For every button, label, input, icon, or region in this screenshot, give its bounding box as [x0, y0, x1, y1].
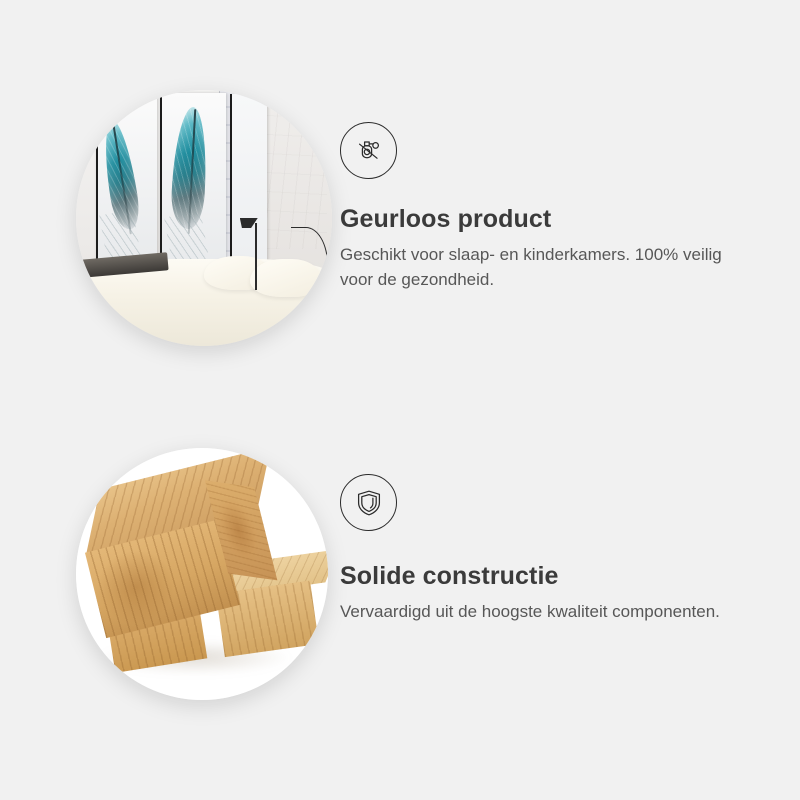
- bedroom-feather-canvas-photo: [76, 90, 332, 346]
- feature-copy-1: Geurloos product Geschikt voor slaap- en…: [340, 80, 760, 292]
- feature-title: Solide constructie: [340, 561, 760, 591]
- wood-scene: [76, 448, 328, 700]
- canvas-panel-left: [96, 95, 157, 272]
- feature-block-odourless: Geurloos product Geschikt voor slaap- en…: [0, 80, 800, 370]
- wooden-beams-photo: [76, 448, 328, 700]
- feature-copy-2: Solide constructie Vervaardigd uit de ho…: [340, 438, 760, 624]
- no-fragrance-icon: [340, 122, 397, 179]
- shield-icon: [340, 474, 397, 531]
- bedroom-scene: [76, 90, 332, 346]
- feature-block-solid-construction: Solide constructie Vervaardigd uit de ho…: [0, 438, 800, 728]
- feature-media-2: [0, 438, 340, 718]
- feature-description: Geschikt voor slaap- en kinderkamers. 10…: [340, 242, 732, 292]
- floor-lamp-pole: [255, 223, 257, 290]
- feature-media-1: [0, 80, 340, 360]
- canvas-panel-right: [230, 94, 268, 273]
- product-feature-infographic: Geurloos product Geschikt voor slaap- en…: [0, 0, 800, 800]
- feature-description: Vervaardigd uit de hoogste kwaliteit com…: [340, 599, 732, 624]
- feather-wisp: [164, 211, 209, 265]
- canvas-panel-middle: [160, 93, 226, 277]
- feature-title: Geurloos product: [340, 204, 760, 234]
